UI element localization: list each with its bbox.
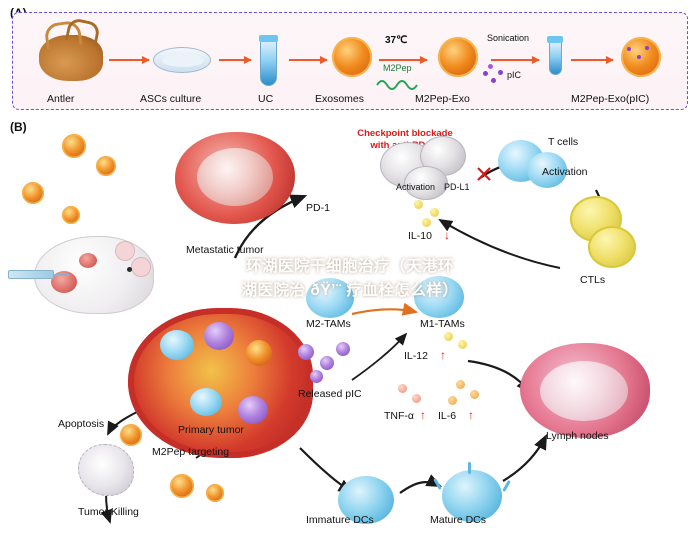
panelA-label-final: M2Pep-Exo(pIC) — [571, 93, 649, 105]
released-pic-label: Released pIC — [298, 388, 362, 400]
arrow-asc-to-uc — [219, 59, 251, 61]
arrow-sonication-to-final — [571, 59, 613, 61]
cytokine-dot — [430, 208, 439, 217]
mouse-tumor-spot — [79, 253, 97, 268]
panelA-label-uc: UC — [258, 93, 273, 105]
immature-dcs-label: Immature DCs — [306, 514, 374, 526]
nanoparticle-icon — [62, 134, 86, 158]
il10-label: IL-10 — [408, 230, 432, 242]
il6-up-arrow: ↑ — [468, 408, 474, 422]
panelA-label-m2pepexo: M2Pep-Exo — [415, 93, 470, 105]
infiltrating-cell-icon — [160, 330, 194, 360]
m2pep-squiggle-icon — [375, 75, 435, 91]
panelA-label-asc: ASCs culture — [140, 93, 201, 105]
dendrite-icon — [468, 462, 471, 474]
cytokine-dot — [444, 332, 453, 341]
m1-tams-label: M1-TAMs — [420, 318, 465, 330]
pd1-label: PD-L1 — [444, 182, 470, 192]
nanoparticle-icon — [246, 340, 272, 366]
ctls-label: CTLs — [580, 274, 605, 286]
deer-icon — [39, 35, 103, 81]
nanoparticle-icon — [170, 474, 194, 498]
pic-particle-icon — [298, 344, 314, 360]
lymph-nodes-label: Lymph nodes — [546, 430, 609, 442]
nanoparticle-icon — [96, 156, 116, 176]
cytokine-dot — [448, 396, 457, 405]
pic-annotation: pIC — [507, 70, 521, 80]
ctl-cell-icon — [588, 226, 636, 268]
cytokine-dot — [470, 390, 479, 399]
sonication-tube-icon — [549, 41, 562, 75]
m2-tams-label: M2-TAMs — [306, 318, 351, 330]
centrifuge-tube-icon — [260, 40, 277, 86]
metastatic-tumor-label: Metastatic tumor — [186, 244, 264, 256]
tnfa-up-arrow: ↑ — [420, 408, 426, 422]
macrophage-icon — [238, 396, 268, 424]
m1-tam-icon — [414, 276, 464, 318]
il6-label: IL-6 — [438, 410, 456, 422]
syringe-icon — [8, 270, 54, 279]
tumor-cells-label: PD-1 — [306, 202, 330, 214]
apoptosis-label: Apoptosis — [58, 418, 104, 430]
pic-loaded-icon — [625, 43, 651, 61]
mouse-ear-icon — [115, 241, 135, 261]
panel-b-mechanism: Checkpoint blockade with anti-PD-L1 PD-1… — [0, 118, 700, 547]
arrow-uc-to-exosomes — [289, 59, 327, 61]
macrophage-icon — [204, 322, 234, 350]
nanoparticle-icon — [206, 484, 224, 502]
t-cells-label: T cells — [548, 136, 578, 148]
cytokine-dot — [456, 380, 465, 389]
petri-dish-icon — [153, 47, 211, 73]
cytokine-dot — [412, 394, 421, 403]
mature-dcs-label: Mature DCs — [430, 514, 486, 526]
arrow-exosome-to-m2pepexo — [379, 59, 427, 61]
exosome-icon — [332, 37, 372, 77]
panelA-label-exosomes: Exosomes — [315, 93, 364, 105]
cytokine-dot — [422, 218, 431, 227]
m2pep-exosome-icon — [438, 37, 478, 77]
m2-tam-icon — [306, 278, 354, 318]
pic-particle-icon — [336, 342, 350, 356]
infiltrating-cell-icon — [190, 388, 222, 416]
il12-up-arrow: ↑ — [440, 348, 446, 362]
sonication-tube-cap-icon — [547, 36, 563, 43]
cytokine-dot — [458, 340, 467, 349]
nanoparticle-icon — [22, 182, 44, 204]
mouse-ear-icon — [131, 257, 151, 277]
mouse-eye-icon — [127, 267, 132, 272]
tumor-killing-label: Tumor Killing — [78, 506, 139, 518]
metastatic-tumor-icon — [175, 132, 295, 224]
cytokine-dot — [414, 200, 423, 209]
temperature-annotation: 37℃ — [385, 35, 407, 46]
arrow-antler-to-asc — [109, 59, 149, 61]
il12-label: IL-12 — [404, 350, 428, 362]
panel-a-preparation: Antler ASCs culture UC Exosomes 37℃ M2Pe… — [12, 12, 688, 110]
apoptotic-cell-icon — [78, 444, 134, 496]
activation-label: Activation — [542, 166, 588, 178]
cytokine-dot — [398, 384, 407, 393]
tnfa-label: TNF-α — [384, 410, 414, 422]
m2pep-annotation: M2Pep — [383, 63, 412, 73]
il10-down-arrow: ↓ — [444, 228, 450, 242]
nanoparticle-icon — [120, 424, 142, 446]
nanoparticle-icon — [62, 206, 80, 224]
pic-icon — [483, 69, 509, 87]
panelA-label-antler: Antler — [47, 93, 74, 105]
m2pep-targeting-label: M2Pep targeting — [152, 446, 229, 458]
primary-tumor-label: Primary tumor — [178, 424, 244, 436]
figure-canvas: (A) Antler ASCs culture UC Exosomes 37℃ … — [0, 0, 700, 547]
checkpoint-blockade-title: Checkpoint blockade — [330, 128, 480, 140]
pdl1-label: Activation — [396, 182, 435, 192]
arrow-m2pepexo-to-sonication — [491, 59, 539, 61]
sonication-annotation: Sonication — [487, 33, 529, 43]
tube-cap-icon — [259, 35, 278, 42]
lymph-node-icon — [520, 343, 650, 438]
pic-particle-icon — [320, 356, 334, 370]
pic-particle-icon — [310, 370, 323, 383]
